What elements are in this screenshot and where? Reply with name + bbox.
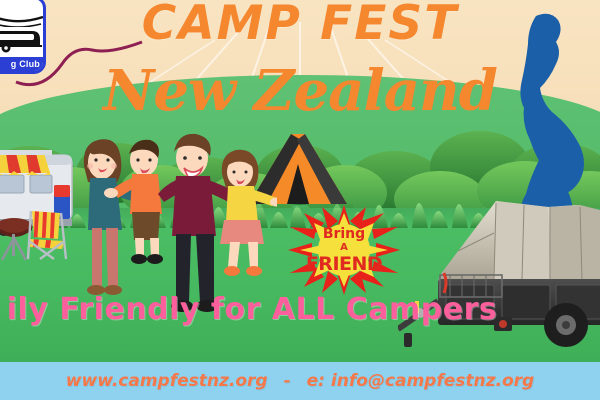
- caravan-icon: [0, 27, 44, 53]
- footer-bar: www.campfestnz.org - e: info@campfestnz.…: [0, 362, 600, 400]
- camping-club-logo[interactable]: g Club: [0, 0, 46, 74]
- logo-label: g Club: [0, 57, 43, 71]
- email-link[interactable]: e: info@campfestnz.org: [307, 371, 535, 391]
- family-group: [72, 122, 277, 317]
- poster-canvas: Bring A FRIEND CAMP FEST New Zealand ily…: [0, 0, 600, 400]
- deck-chair: [24, 205, 72, 261]
- website-link[interactable]: www.campfestnz.org: [66, 371, 268, 391]
- swoosh-icon: [0, 11, 43, 27]
- family-girl: [220, 150, 277, 276]
- bring-a-friend-badge[interactable]: Bring A FRIEND: [288, 205, 400, 295]
- tagline: ily Friendly for ALL Campers: [0, 292, 552, 328]
- footer-separator: -: [284, 371, 291, 391]
- starburst-shape: [288, 205, 400, 295]
- camper-trailer: [398, 193, 600, 361]
